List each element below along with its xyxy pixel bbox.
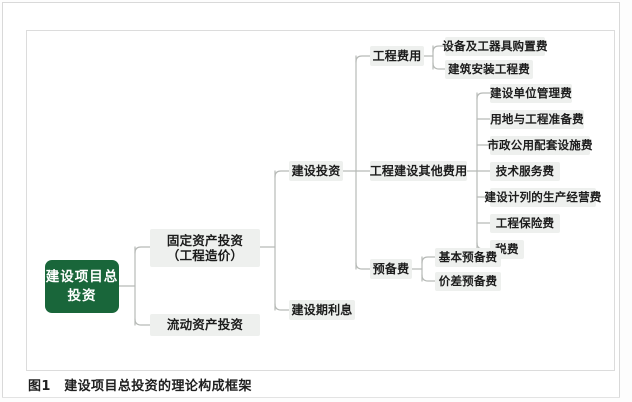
node-root-label: 建设项目总投资 — [45, 268, 119, 304]
node-other-cost-label: 工程建设其他费用 — [370, 164, 468, 179]
node-rc2-label: 价差预备费 — [439, 274, 498, 288]
node-oc5-label: 建设计列的生产经营费 — [485, 190, 602, 204]
node-engineering-insurance-fee[interactable]: 工程保险费 — [490, 214, 560, 233]
node-eq1-label: 设备及工器具购置费 — [442, 39, 547, 53]
node-equipment-purchase-cost[interactable]: 设备及工器具购置费 — [445, 37, 545, 56]
node-eq2-label: 建筑安装工程费 — [448, 62, 530, 76]
node-land-and-preparation-fee[interactable]: 用地与工程准备费 — [490, 110, 584, 129]
bottom-divider — [2, 397, 620, 398]
node-fixed-asset-line2: （工程造价） — [167, 248, 243, 263]
node-engineering-cost[interactable]: 工程费用 — [370, 46, 424, 66]
node-current-asset-investment[interactable]: 流动资产投资 — [150, 314, 260, 336]
node-reserve-cost[interactable]: 预备费 — [370, 259, 412, 279]
node-construction-investment-label: 建设投资 — [292, 164, 341, 179]
node-fixed-asset-investment[interactable]: 固定资产投资 （工程造价） — [150, 229, 260, 267]
figure-page: 建设项目总投资 固定资产投资 （工程造价） 流动资产投资 建设投资 建设期利息 — [0, 0, 632, 402]
node-fixed-asset-line1: 固定资产投资 — [167, 233, 243, 248]
page-card: 建设项目总投资 固定资产投资 （工程造价） 流动资产投资 建设投资 建设期利息 — [2, 2, 620, 398]
node-oc6-label: 工程保险费 — [496, 216, 555, 230]
node-price-difference-reserve-fee[interactable]: 价差预备费 — [435, 272, 501, 291]
node-construction-period-interest[interactable]: 建设期利息 — [289, 300, 355, 320]
node-rc1-label: 基本预备费 — [439, 250, 498, 264]
node-engineering-cost-label: 工程费用 — [373, 49, 422, 64]
node-technical-service-fee[interactable]: 技术服务费 — [490, 162, 560, 181]
node-root[interactable]: 建设项目总投资 — [45, 260, 119, 313]
node-owner-management-fee[interactable]: 建设单位管理费 — [490, 84, 572, 103]
node-construction-investment[interactable]: 建设投资 — [289, 161, 343, 181]
node-production-operation-fee[interactable]: 建设计列的生产经营费 — [490, 188, 596, 207]
node-current-asset-label: 流动资产投资 — [167, 317, 243, 332]
node-oc2-label: 用地与工程准备费 — [490, 112, 584, 126]
node-municipal-facility-fee[interactable]: 市政公用配套设施费 — [490, 136, 590, 155]
figure-caption: 图1 建设项目总投资的理论构成框架 — [28, 375, 252, 394]
figure-frame: 建设项目总投资 固定资产投资 （工程造价） 流动资产投资 建设投资 建设期利息 — [26, 30, 615, 371]
node-oc3-label: 市政公用配套设施费 — [487, 138, 592, 152]
node-basic-reserve-fee[interactable]: 基本预备费 — [435, 248, 501, 267]
tree-diagram: 建设项目总投资 固定资产投资 （工程造价） 流动资产投资 建设投资 建设期利息 — [27, 31, 615, 371]
node-oc4-label: 技术服务费 — [496, 164, 555, 178]
node-oc1-label: 建设单位管理费 — [490, 86, 572, 100]
node-other-construction-cost[interactable]: 工程建设其他费用 — [370, 161, 467, 181]
node-construction-interest-label: 建设期利息 — [291, 303, 352, 318]
node-reserve-cost-label: 预备费 — [373, 262, 410, 277]
node-building-installation-cost[interactable]: 建筑安装工程费 — [445, 60, 533, 79]
